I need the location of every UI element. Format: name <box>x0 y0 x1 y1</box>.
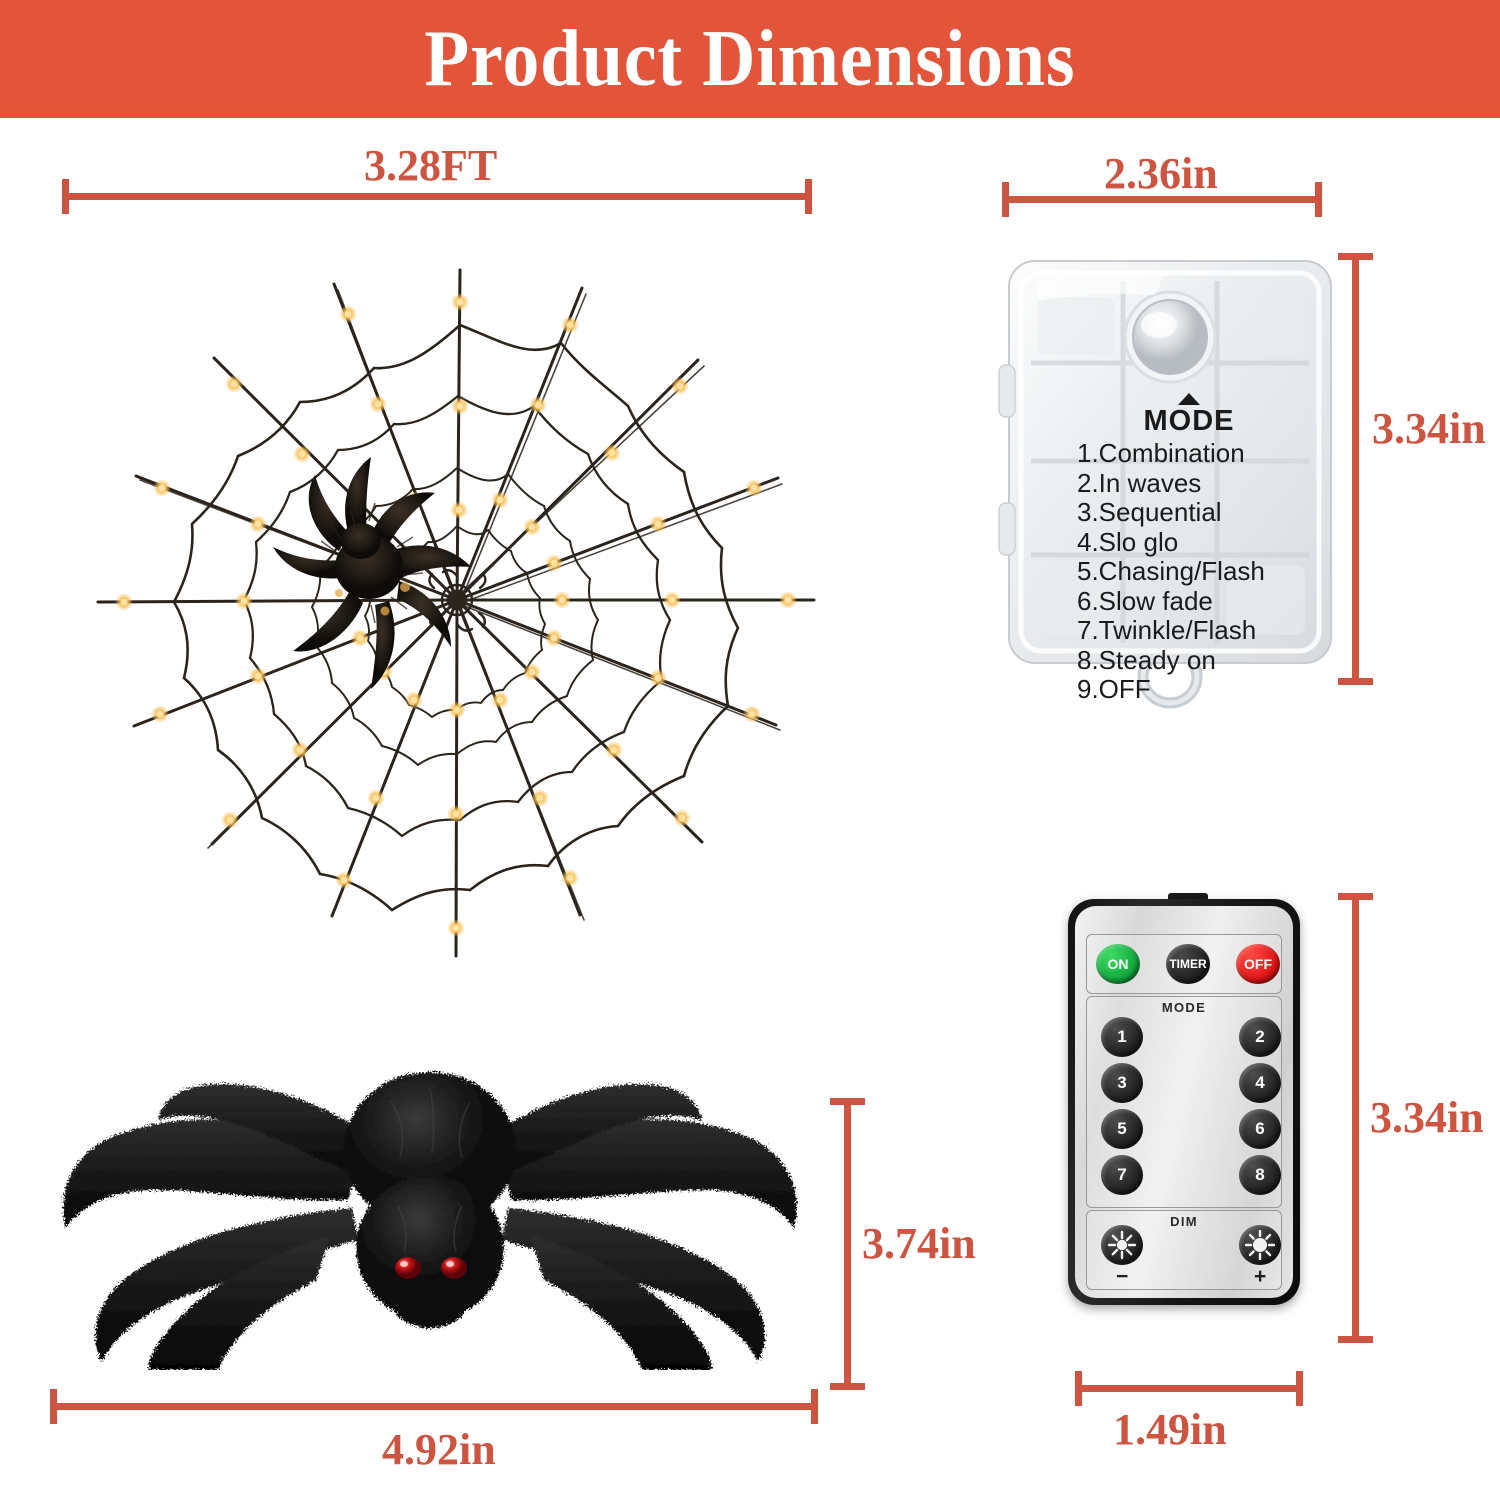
remote-mode-button-6[interactable]: 6 <box>1239 1109 1281 1149</box>
remote-body: ON TIMER OFF MODE 1 2 3 4 5 6 7 8 DIM <box>1068 899 1300 1305</box>
brightness-high-icon <box>1245 1230 1275 1260</box>
dimension-line-web-width <box>62 193 812 200</box>
remote-mode-caption: MODE <box>1087 1000 1281 1015</box>
remote-dim-panel: DIM <box>1086 1210 1282 1290</box>
dimension-line-plush-height <box>844 1098 851 1390</box>
dimension-label-remote-height: 3.34in <box>1370 1092 1484 1143</box>
dimension-label-battery-height: 3.34in <box>1372 403 1486 454</box>
spider-web-image <box>62 210 852 1000</box>
remote-mode-button-2[interactable]: 2 <box>1239 1017 1281 1057</box>
remote-control-image: ON TIMER OFF MODE 1 2 3 4 5 6 7 8 DIM <box>1068 893 1308 1313</box>
plush-spider-image <box>30 1040 830 1370</box>
remote-mode-button-5[interactable]: 5 <box>1101 1109 1143 1149</box>
remote-faceplate: ON TIMER OFF MODE 1 2 3 4 5 6 7 8 DIM <box>1075 906 1293 1298</box>
remote-power-panel: ON TIMER OFF <box>1086 934 1282 994</box>
battery-box-image: MODE 1.Combination 2.In waves 3.Sequenti… <box>995 245 1345 715</box>
dimension-label-plush-height: 3.74in <box>862 1218 976 1269</box>
remote-mode-panel: MODE 1 2 3 4 5 6 7 8 <box>1086 996 1282 1208</box>
remote-dim-up-button[interactable] <box>1239 1225 1281 1265</box>
page-title: Product Dimensions <box>424 19 1075 99</box>
remote-mode-button-4[interactable]: 4 <box>1239 1063 1281 1103</box>
dimension-line-battery-height <box>1352 253 1359 685</box>
remote-dim-plus-label: + <box>1254 1265 1266 1289</box>
remote-dim-minus-label: − <box>1116 1265 1128 1289</box>
dimension-label-remote-width: 1.49in <box>1113 1404 1227 1455</box>
dimension-line-remote-width <box>1075 1385 1303 1392</box>
remote-off-button[interactable]: OFF <box>1236 944 1280 984</box>
dimension-label-web-width: 3.28FT <box>364 140 497 191</box>
remote-mode-button-8[interactable]: 8 <box>1239 1155 1281 1195</box>
mode-push-button <box>1125 292 1215 382</box>
remote-timer-button[interactable]: TIMER <box>1166 944 1210 984</box>
remote-mode-button-3[interactable]: 3 <box>1101 1063 1143 1103</box>
header-banner: Product Dimensions <box>0 0 1500 118</box>
dimension-label-plush-width: 4.92in <box>382 1424 496 1475</box>
brightness-low-icon <box>1107 1230 1137 1260</box>
dimension-line-remote-height <box>1352 893 1359 1343</box>
remote-on-button[interactable]: ON <box>1096 944 1140 984</box>
remote-mode-button-1[interactable]: 1 <box>1101 1017 1143 1057</box>
dimension-line-plush-width <box>50 1403 818 1410</box>
remote-dim-down-button[interactable] <box>1101 1225 1143 1265</box>
dimension-label-battery-width: 2.36in <box>1104 148 1218 199</box>
remote-mode-button-7[interactable]: 7 <box>1101 1155 1143 1195</box>
